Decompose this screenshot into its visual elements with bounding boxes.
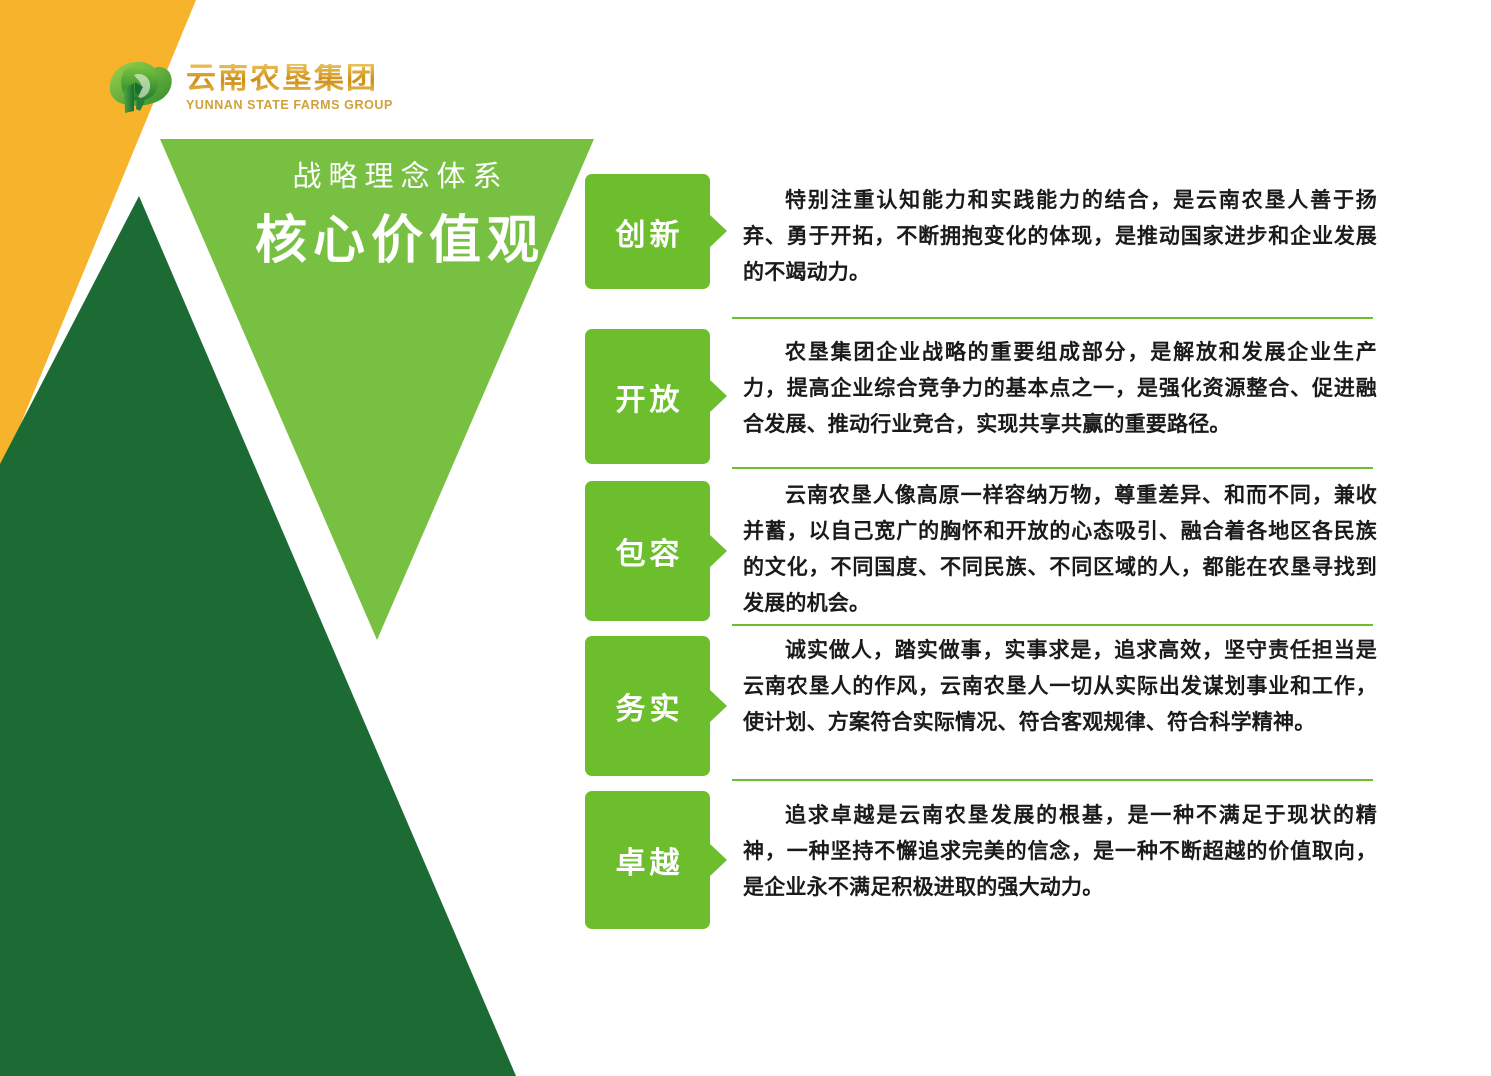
value-label-tab[interactable]: 务实 <box>585 636 710 776</box>
value-label-tab[interactable]: 包容 <box>585 481 710 621</box>
tab-arrow-icon <box>709 534 727 568</box>
value-label: 创新 <box>612 210 684 254</box>
value-label-tab[interactable]: 开放 <box>585 329 710 464</box>
brand-logo: 云南农垦集团 YUNNAN STATE FARMS GROUP <box>104 52 393 124</box>
section-divider <box>732 779 1373 781</box>
core-values-list: 创新 特别注重认知能力和实践能力的结合，是云南农垦人善于扬弃、勇于开拓，不断拥抱… <box>585 0 1491 1076</box>
tab-arrow-icon <box>709 689 727 723</box>
headline-group: 战略理念体系 核心价值观 <box>232 160 562 270</box>
tab-arrow-icon <box>709 214 727 248</box>
section-divider <box>732 317 1373 319</box>
section-divider <box>732 624 1373 626</box>
value-label: 务实 <box>612 684 684 728</box>
value-description: 农垦集团企业战略的重要组成部分，是解放和发展企业生产力，提高企业综合竞争力的基本… <box>743 335 1377 443</box>
slide-canvas: 云南农垦集团 YUNNAN STATE FARMS GROUP 战略理念体系 核… <box>0 0 1491 1076</box>
yunnan-state-farms-leaf-logo-icon <box>104 55 176 121</box>
value-description: 诚实做人，踏实做事，实事求是，追求高效，坚守责任担当是云南农垦人的作风，云南农垦… <box>743 633 1377 741</box>
value-description: 云南农垦人像高原一样容纳万物，尊重差异、和而不同，兼收并蓄，以自己宽广的胸怀和开… <box>743 478 1377 622</box>
value-label: 包容 <box>612 529 684 573</box>
value-label: 开放 <box>612 375 684 419</box>
tab-arrow-icon <box>709 379 727 413</box>
section-divider <box>732 467 1373 469</box>
brand-wordmark: 云南农垦集团 YUNNAN STATE FARMS GROUP <box>186 64 393 112</box>
value-label-tab[interactable]: 卓越 <box>585 791 710 929</box>
page-title: 核心价值观 <box>232 213 562 270</box>
brand-name-cn: 云南农垦集团 <box>186 64 393 94</box>
value-label: 卓越 <box>612 838 684 882</box>
headline-subtitle: 战略理念体系 <box>232 160 562 195</box>
value-description: 追求卓越是云南农垦发展的根基，是一种不满足于现状的精神，一种坚持不懈追求完美的信… <box>743 798 1377 906</box>
brand-name-en: YUNNAN STATE FARMS GROUP <box>186 99 393 112</box>
value-description: 特别注重认知能力和实践能力的结合，是云南农垦人善于扬弃、勇于开拓，不断拥抱变化的… <box>743 183 1377 291</box>
value-label-tab[interactable]: 创新 <box>585 174 710 289</box>
tab-arrow-icon <box>709 843 727 877</box>
